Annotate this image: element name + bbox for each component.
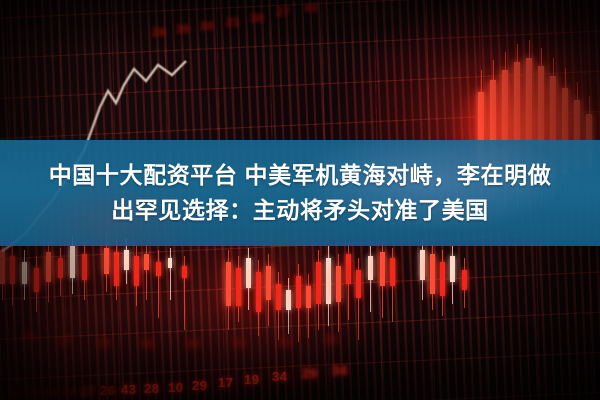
headline-text-block: 中国十大配资平台 中美军机黄海对峙，李在明做 出罕见选择：主动将矛头对准了美国	[0, 140, 600, 246]
headline-line-1: 中国十大配资平台 中美军机黄海对峙，李在明做	[49, 162, 552, 189]
headline-line-2: 出罕见选择：主动将矛头对准了美国	[111, 197, 489, 224]
screenshot-root: 26303021302740 2627293026242230 26232424…	[0, 0, 600, 400]
